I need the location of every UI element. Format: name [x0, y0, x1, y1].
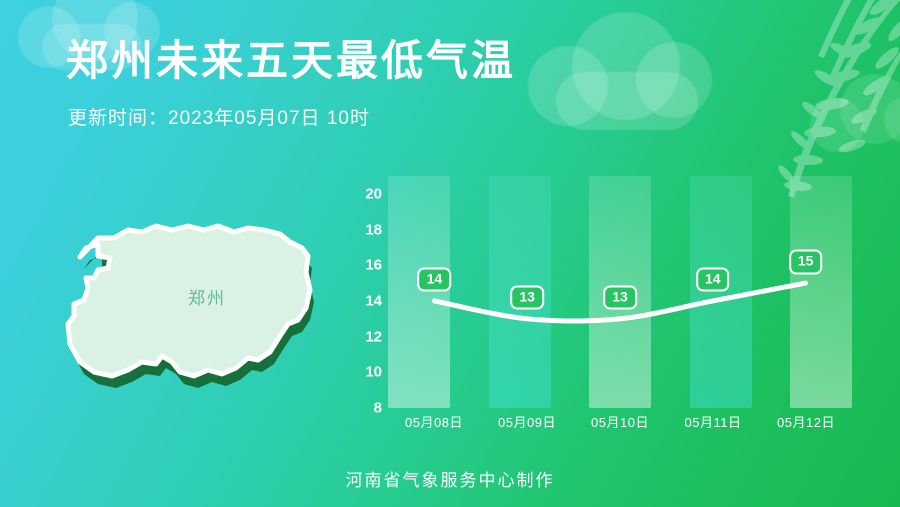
x-axis-tick: 05月09日	[481, 412, 573, 431]
map-city-label: 郑州	[162, 284, 252, 309]
cloud-decoration-icon	[572, 12, 680, 120]
page-title: 郑州未来五天最低气温	[66, 38, 516, 84]
data-point-label: 14	[696, 267, 730, 292]
henan-province-map: 郑州	[58, 212, 328, 402]
data-point-label: 13	[510, 285, 544, 310]
weather-infographic: 郑州未来五天最低气温 更新时间：2023年05月07日 10时 郑州 81012…	[0, 0, 900, 507]
y-axis-tick: 16	[348, 257, 382, 274]
y-axis-tick: 12	[348, 328, 382, 345]
x-axis-tick: 05月12日	[760, 412, 852, 431]
y-axis-tick: 20	[348, 185, 382, 202]
y-axis: 8101214161820	[348, 176, 382, 408]
temperature-chart: 8101214161820	[348, 176, 852, 408]
y-axis-tick: 18	[348, 221, 382, 238]
chart-column-band	[690, 176, 752, 408]
x-axis-tick: 05月11日	[667, 412, 759, 431]
y-axis-tick: 8	[348, 400, 382, 417]
y-axis-tick: 10	[348, 364, 382, 381]
x-axis-tick: 05月08日	[388, 412, 480, 431]
data-point-label: 14	[418, 267, 452, 292]
chart-column-band	[790, 176, 852, 408]
footer-credit: 河南省气象服务中心制作	[0, 466, 900, 491]
x-axis-tick: 05月10日	[574, 412, 666, 431]
data-point-label: 13	[603, 285, 637, 310]
y-axis-tick: 14	[348, 292, 382, 309]
x-axis: 05月08日05月09日05月10日05月11日05月12日	[388, 412, 852, 431]
chart-column-band	[388, 176, 450, 408]
data-point-label: 15	[789, 250, 823, 275]
cloud-decoration-icon	[840, 74, 900, 144]
update-time-text: 更新时间：2023年05月07日 10时	[68, 103, 370, 130]
